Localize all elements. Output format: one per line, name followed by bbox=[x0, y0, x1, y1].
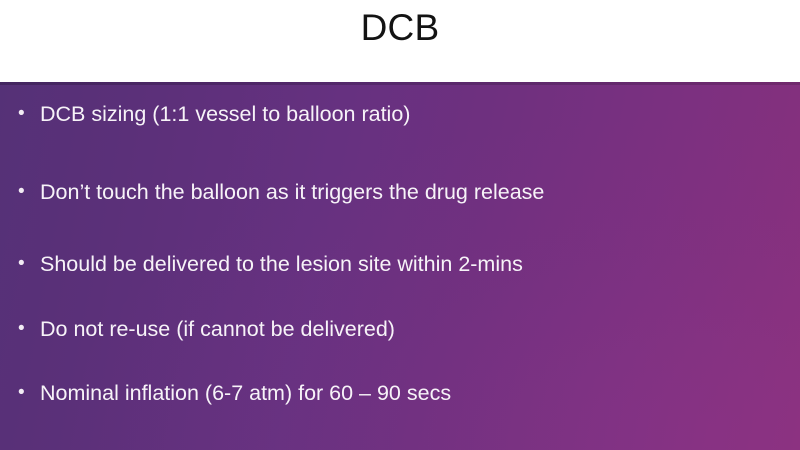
bullet-list: • DCB sizing (1:1 vessel to balloon rati… bbox=[0, 82, 800, 450]
bullet-dot-icon: • bbox=[18, 251, 40, 277]
list-item: • DCB sizing (1:1 vessel to balloon rati… bbox=[18, 101, 776, 127]
list-item-label: DCB sizing (1:1 vessel to balloon ratio) bbox=[40, 101, 776, 127]
list-item: • Nominal inflation (6-7 atm) for 60 – 9… bbox=[18, 380, 776, 406]
list-item-label: Do not re-use (if cannot be delivered) bbox=[40, 316, 776, 342]
bullet-dot-icon: • bbox=[18, 316, 40, 342]
list-item: • Should be delivered to the lesion site… bbox=[18, 251, 776, 277]
slide-content-panel: • DCB sizing (1:1 vessel to balloon rati… bbox=[0, 82, 800, 450]
list-item-label: Nominal inflation (6-7 atm) for 60 – 90 … bbox=[40, 380, 776, 406]
bullet-dot-icon: • bbox=[18, 101, 40, 127]
list-item: • Do not re-use (if cannot be delivered) bbox=[18, 316, 776, 342]
bullet-dot-icon: • bbox=[18, 179, 40, 205]
slide-title-band: DCB bbox=[0, 0, 800, 82]
presentation-slide: DCB • DCB sizing (1:1 vessel to balloon … bbox=[0, 0, 800, 450]
list-item-label: Don’t touch the balloon as it triggers t… bbox=[40, 179, 776, 205]
page-title: DCB bbox=[361, 9, 440, 46]
bullet-dot-icon: • bbox=[18, 380, 40, 406]
list-item-label: Should be delivered to the lesion site w… bbox=[40, 251, 776, 277]
list-item: • Don’t touch the balloon as it triggers… bbox=[18, 179, 776, 205]
